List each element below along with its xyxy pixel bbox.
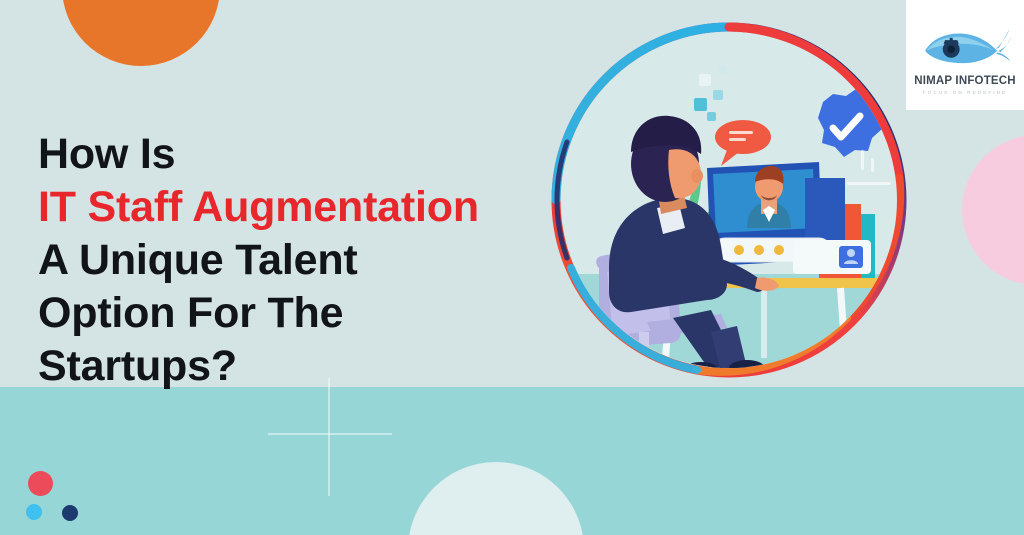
- headline-line-4: Option For The: [38, 287, 558, 340]
- crosshair-decoration: [268, 378, 392, 496]
- illustration-inner-disc: [561, 32, 897, 368]
- headline-line-2-accent: IT Staff Augmentation: [38, 181, 558, 234]
- headline-line-1: How Is: [38, 128, 558, 181]
- speech-bubble-icon: [715, 120, 771, 166]
- logo-tagline: FOCUS ON REDEFINE: [923, 90, 1007, 95]
- red-dot-decoration: [28, 471, 53, 496]
- workspace-illustration: [561, 32, 897, 368]
- user-profile-card: [793, 240, 871, 274]
- page-title: How Is IT Staff Augmentation A Unique Ta…: [38, 128, 558, 393]
- verified-check-icon: [818, 89, 882, 157]
- cyan-dot-decoration: [26, 504, 42, 520]
- decor-lines: [847, 150, 891, 185]
- nimap-eye-fish-icon: [919, 22, 1011, 72]
- logo-panel[interactable]: NIMAP INFOTECH FOCUS ON REDEFINE: [906, 0, 1024, 110]
- headline-line-3: A Unique Talent: [38, 234, 558, 287]
- navy-dot-decoration: [62, 505, 78, 521]
- illustration-circle: [547, 18, 911, 382]
- headline-line-5: Startups?: [38, 340, 558, 393]
- logo-company-name: NIMAP INFOTECH: [914, 75, 1016, 87]
- promo-banner: How Is IT Staff Augmentation A Unique Ta…: [0, 0, 1024, 535]
